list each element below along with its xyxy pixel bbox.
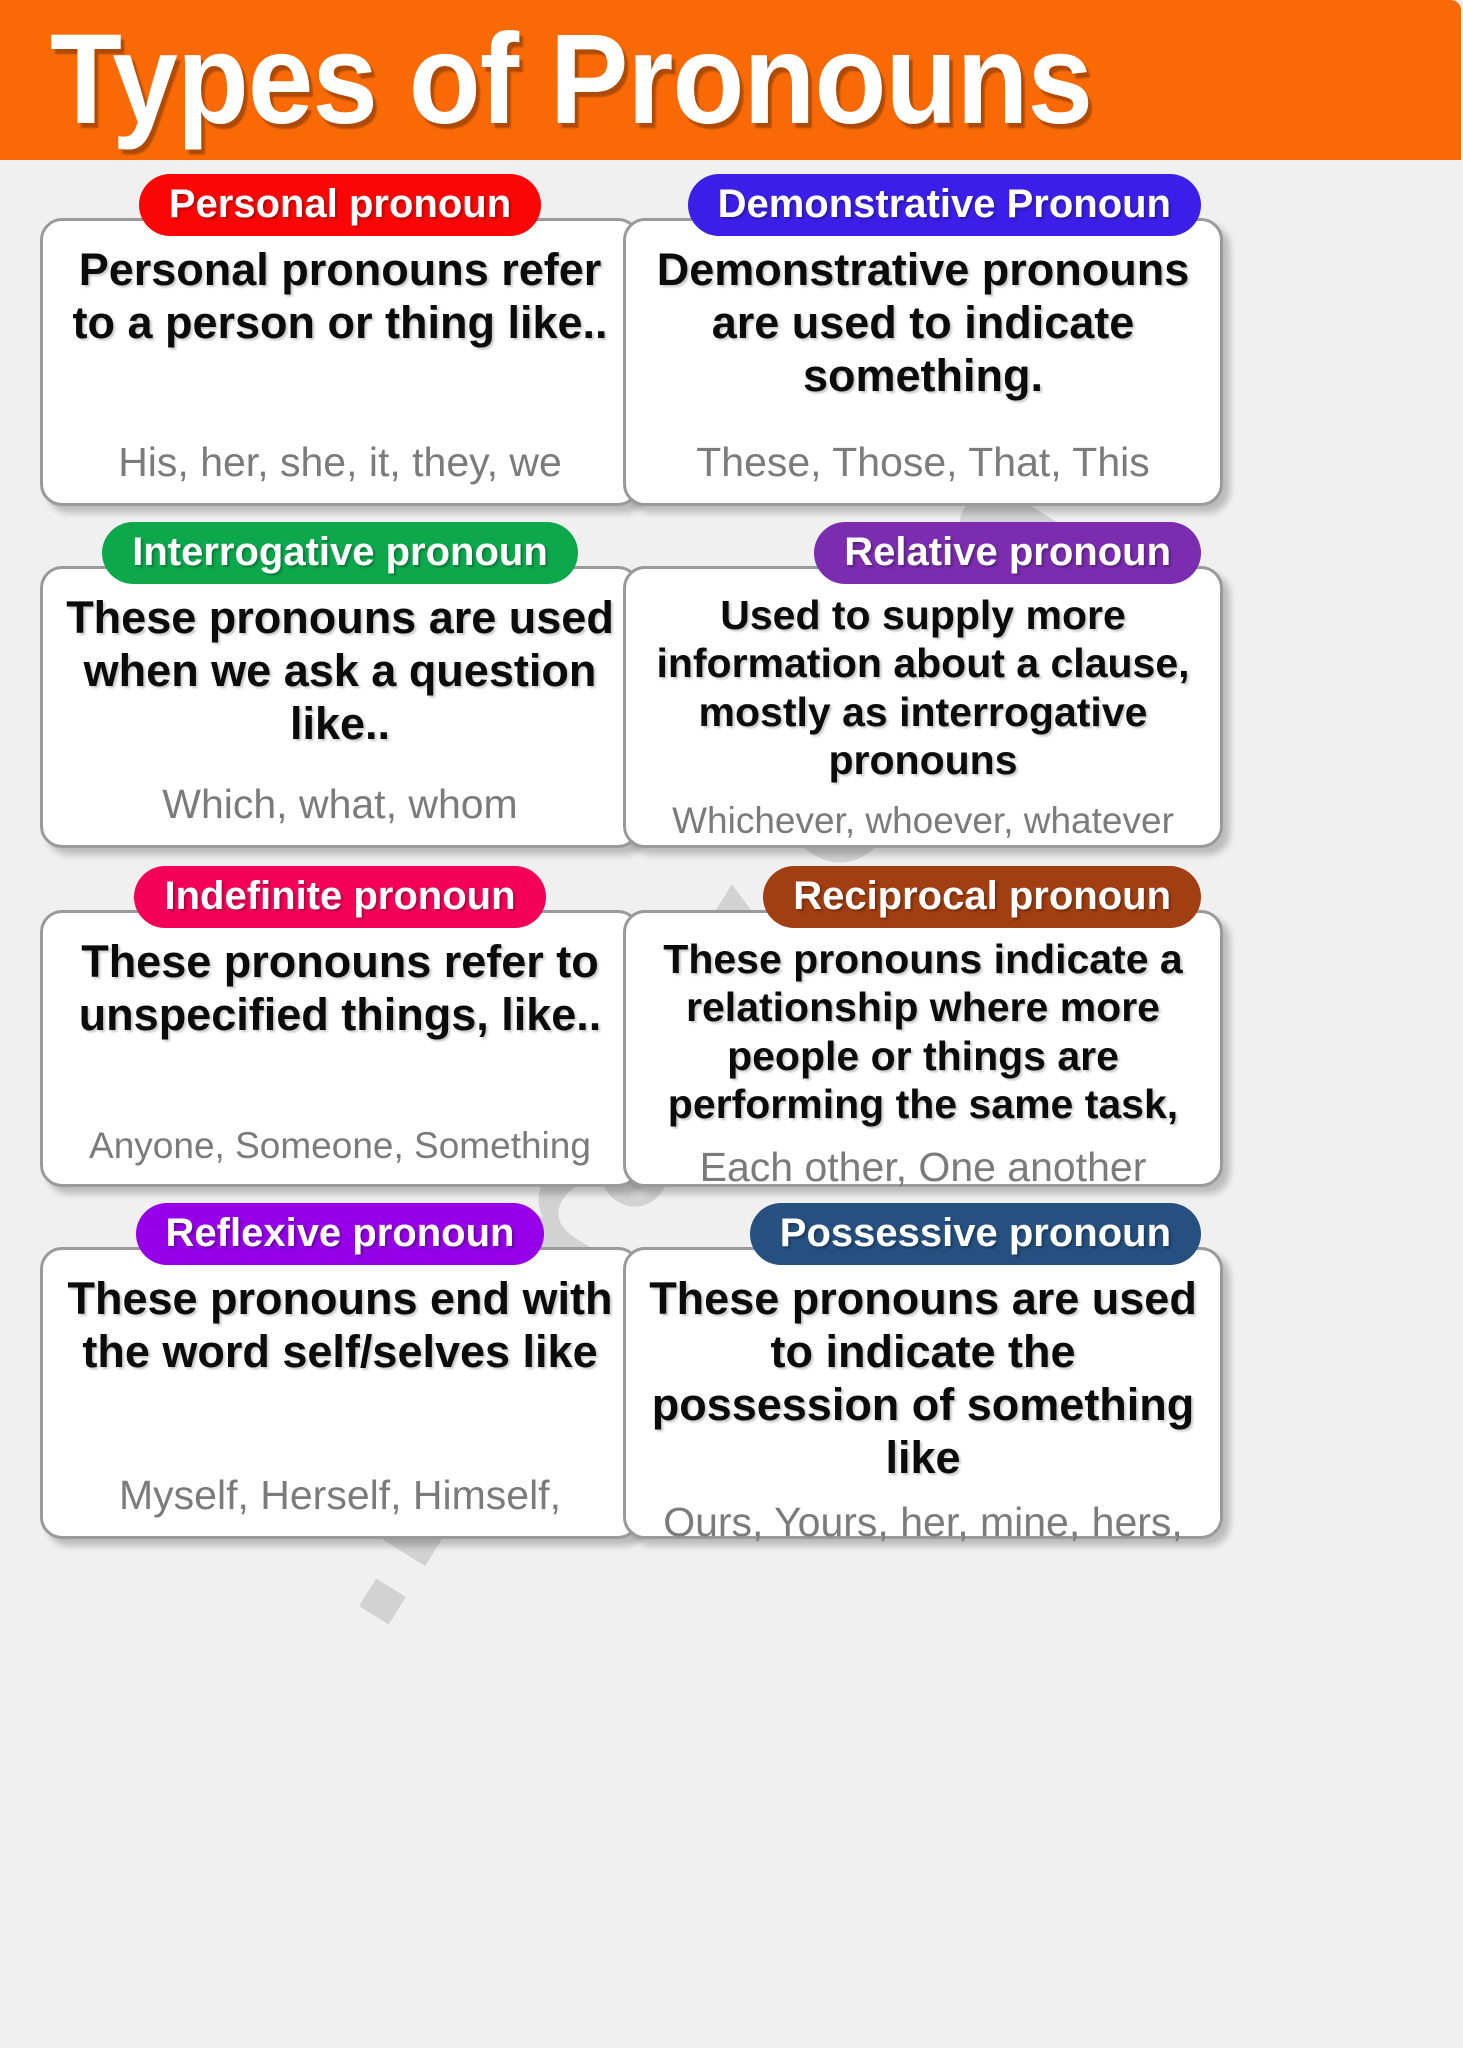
pronoun-cards-board: Personal pronoun Personal pronouns refer… bbox=[0, 160, 1463, 2048]
card-spacer bbox=[61, 1041, 619, 1123]
page-title: Types of Pronouns bbox=[50, 16, 1092, 144]
right-column: Demonstrative Pronoun Demonstrative pron… bbox=[623, 160, 1223, 1539]
description-possessive-pronoun: These pronouns are used to indicate the … bbox=[644, 1272, 1202, 1484]
card-reflexive-pronoun: These pronouns end with the word self/se… bbox=[40, 1247, 640, 1539]
left-column: Personal pronoun Personal pronouns refer… bbox=[40, 160, 640, 1539]
pill-interrogative-pronoun[interactable]: Interrogative pronoun bbox=[102, 522, 578, 584]
pill-row-demonstrative: Demonstrative Pronoun bbox=[623, 174, 1223, 236]
card-interrogative-pronoun: These pronouns are used when we ask a qu… bbox=[40, 566, 640, 848]
pill-demonstrative-pronoun[interactable]: Demonstrative Pronoun bbox=[688, 174, 1201, 236]
card-group-relative-pronoun: Relative pronoun Used to supply more inf… bbox=[623, 522, 1223, 848]
card-spacer bbox=[644, 1484, 1202, 1498]
examples-relative-pronoun: Whichever, whoever, whatever bbox=[644, 799, 1202, 843]
card-group-possessive-pronoun: Possessive pronoun These pronouns are us… bbox=[623, 1203, 1223, 1539]
card-spacer bbox=[644, 402, 1202, 438]
card-indefinite-pronoun: These pronouns refer to unspecified thin… bbox=[40, 910, 640, 1187]
card-group-personal-pronoun: Personal pronoun Personal pronouns refer… bbox=[40, 174, 640, 506]
card-spacer bbox=[61, 349, 619, 438]
examples-interrogative-pronoun: Which, what, whom bbox=[61, 780, 619, 829]
card-personal-pronoun: Personal pronouns refer to a person or t… bbox=[40, 218, 640, 506]
card-group-reciprocal-pronoun: Reciprocal pronoun These pronouns indica… bbox=[623, 866, 1223, 1187]
pill-relative-pronoun[interactable]: Relative pronoun bbox=[814, 522, 1201, 584]
pill-reflexive-pronoun[interactable]: Reflexive pronoun bbox=[136, 1203, 545, 1265]
card-demonstrative-pronoun: Demonstrative pronouns are used to indic… bbox=[623, 218, 1223, 506]
examples-indefinite-pronoun: Anyone, Someone, Something bbox=[61, 1124, 619, 1168]
page-header-banner: Types of Pronouns bbox=[0, 0, 1461, 160]
description-personal-pronoun: Personal pronouns refer to a person or t… bbox=[61, 243, 619, 349]
card-relative-pronoun: Used to supply more information about a … bbox=[623, 566, 1223, 848]
card-spacer bbox=[61, 750, 619, 780]
card-spacer bbox=[644, 785, 1202, 799]
description-demonstrative-pronoun: Demonstrative pronouns are used to indic… bbox=[644, 243, 1202, 402]
description-interrogative-pronoun: These pronouns are used when we ask a qu… bbox=[61, 591, 619, 750]
description-indefinite-pronoun: These pronouns refer to unspecified thin… bbox=[61, 935, 619, 1041]
card-group-reflexive-pronoun: Reflexive pronoun These pronouns end wit… bbox=[40, 1203, 640, 1539]
card-spacer bbox=[644, 1129, 1202, 1143]
card-group-indefinite-pronoun: Indefinite pronoun These pronouns refer … bbox=[40, 866, 640, 1187]
pill-personal-pronoun[interactable]: Personal pronoun bbox=[139, 174, 541, 236]
examples-reflexive-pronoun: Myself, Herself, Himself, bbox=[61, 1471, 619, 1520]
examples-demonstrative-pronoun: These, Those, That, This bbox=[644, 438, 1202, 487]
pill-reciprocal-pronoun[interactable]: Reciprocal pronoun bbox=[763, 866, 1201, 928]
description-reflexive-pronoun: These pronouns end with the word self/se… bbox=[61, 1272, 619, 1378]
description-relative-pronoun: Used to supply more information about a … bbox=[644, 591, 1202, 785]
card-reciprocal-pronoun: These pronouns indicate a relationship w… bbox=[623, 910, 1223, 1187]
description-reciprocal-pronoun: These pronouns indicate a relationship w… bbox=[644, 935, 1202, 1129]
card-spacer bbox=[61, 1378, 619, 1471]
pill-indefinite-pronoun[interactable]: Indefinite pronoun bbox=[134, 866, 545, 928]
pill-possessive-pronoun[interactable]: Possessive pronoun bbox=[750, 1203, 1201, 1265]
card-group-demonstrative-pronoun: Demonstrative Pronoun Demonstrative pron… bbox=[623, 174, 1223, 506]
pill-row-interrogative: Interrogative pronoun bbox=[40, 522, 640, 584]
examples-possessive-pronoun: Ours, Yours, her, mine, hers, bbox=[644, 1498, 1202, 1547]
card-possessive-pronoun: These pronouns are used to indicate the … bbox=[623, 1247, 1223, 1539]
examples-personal-pronoun: His, her, she, it, they, we bbox=[61, 438, 619, 487]
examples-reciprocal-pronoun: Each other, One another bbox=[644, 1143, 1202, 1192]
card-group-interrogative-pronoun: Interrogative pronoun These pronouns are… bbox=[40, 522, 640, 848]
